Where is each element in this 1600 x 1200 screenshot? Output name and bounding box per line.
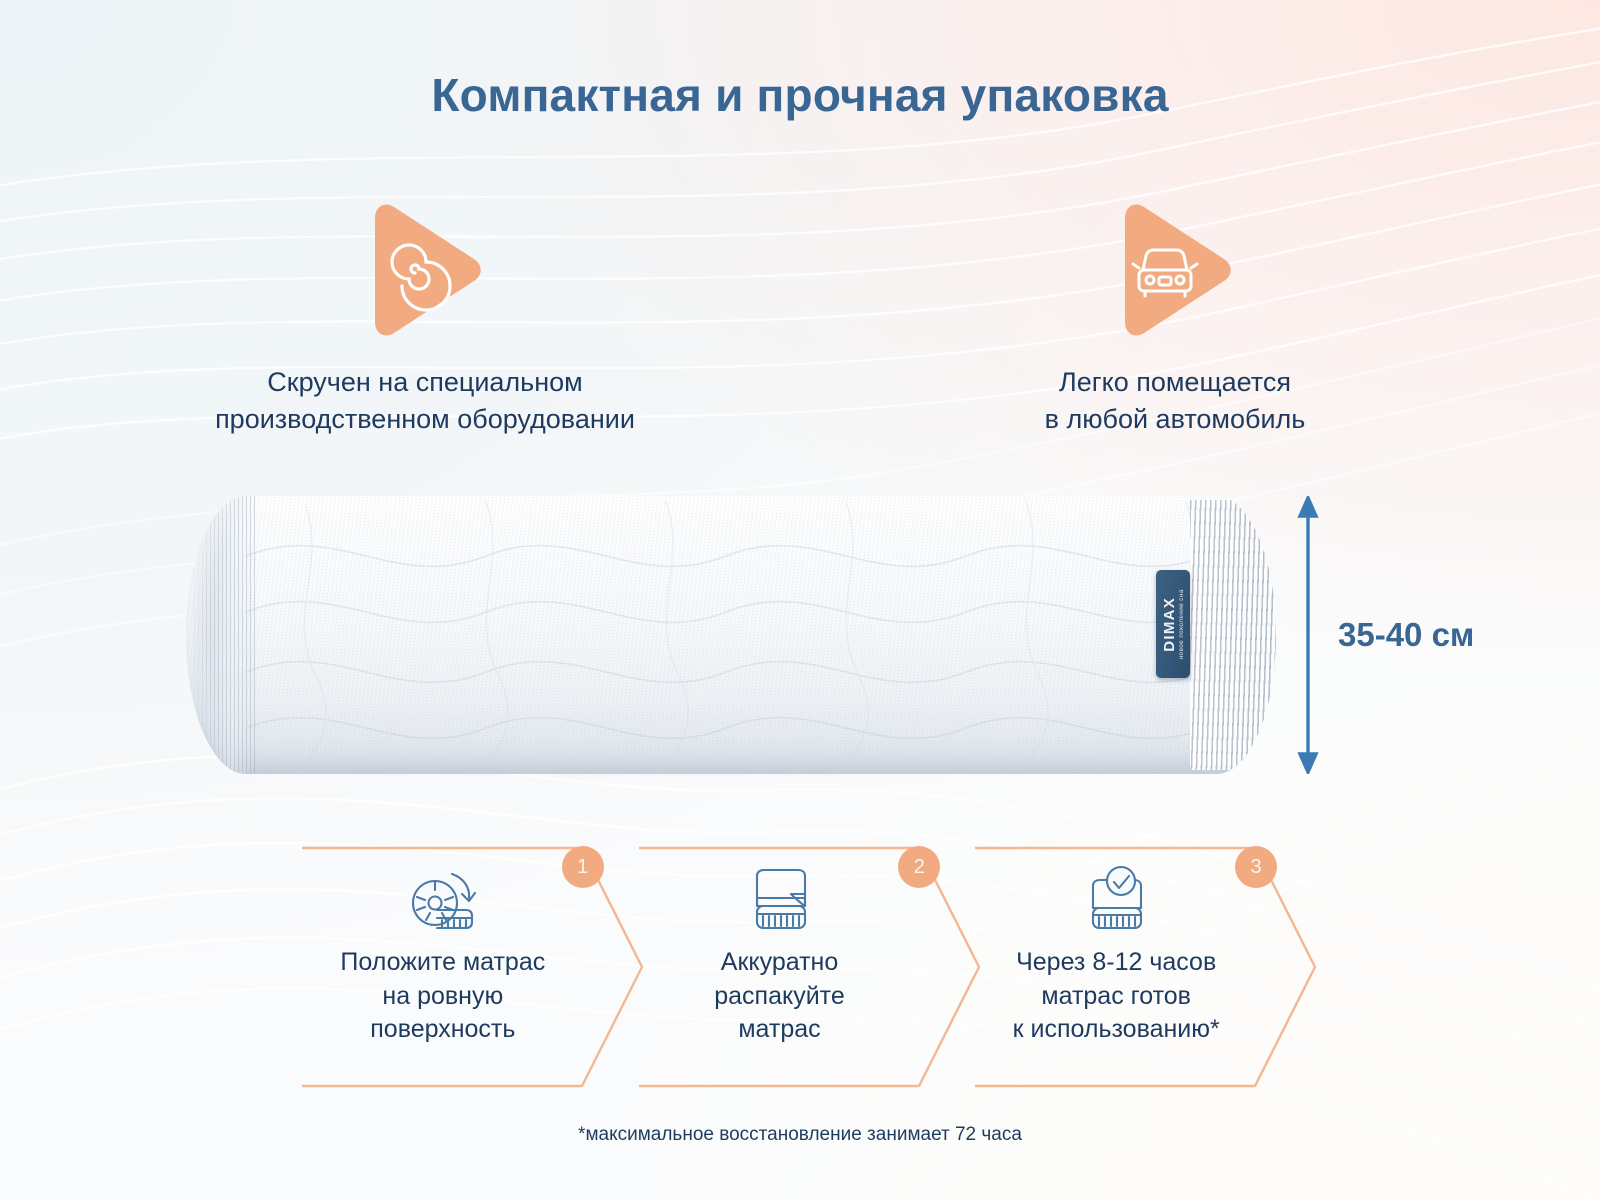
step-item-1: 1 Положите матрас на ровную поверхность	[296, 842, 644, 1092]
rolled-mattress-body: DIMAX новое поколение сна	[186, 496, 1276, 774]
rolled-mattress-image: DIMAX новое поколение сна	[186, 496, 1276, 774]
fabric-grain	[186, 496, 1276, 774]
feature-caption-car: Легко помещается в любой автомобиль	[1045, 364, 1306, 439]
page-title: Компактная и прочная упаковка	[0, 68, 1600, 122]
brand-label-subtitle: новое поколение сна	[1178, 589, 1185, 659]
car-front-icon	[1101, 196, 1249, 344]
step-icon-wrap-3	[969, 864, 1265, 940]
brand-label-name: DIMAX	[1161, 589, 1178, 659]
step-item-2: 2 Аккуратно распакуйте матрас	[633, 842, 981, 1092]
feature-badge-car	[1101, 196, 1249, 344]
step-icon-wrap-2	[633, 864, 929, 940]
rolled-mattress-unroll-icon	[404, 864, 484, 940]
footnote-text: *максимальное восстановление занимает 72…	[0, 1124, 1600, 1146]
mattress-check-icon	[1077, 864, 1157, 940]
step-caption-2: Аккуратно распакуйте матрас	[633, 946, 927, 1047]
spiral-roll-icon	[351, 196, 499, 344]
dimension-arrow-icon	[1288, 496, 1328, 774]
step-icon-wrap-1	[296, 864, 592, 940]
dimension-value: 35-40 см	[1338, 616, 1474, 654]
step-caption-3: Через 8-12 часов матрас готов к использо…	[969, 946, 1263, 1047]
feature-caption-rolled: Скручен на специальном производственном …	[215, 364, 635, 439]
mattress-unpack-icon	[741, 864, 821, 940]
infographic-canvas: Компактная и прочная упаковка Скручен на…	[0, 0, 1600, 1200]
dimension-annotation: 35-40 см	[1288, 496, 1588, 774]
features-row: Скручен на специальном производственном …	[0, 196, 1600, 439]
steps-row: 1 Положите матрас на ровную поверхность	[296, 842, 1306, 1092]
brand-label: DIMAX новое поколение сна	[1156, 570, 1190, 678]
roll-right-coil-edge	[1190, 500, 1276, 770]
feature-badge-rolled	[351, 196, 499, 344]
feature-item-car: Легко помещается в любой автомобиль	[965, 196, 1385, 439]
step-item-3: 3 Через 8-12 часов матрас готов к исполь…	[969, 842, 1317, 1092]
feature-item-rolled: Скручен на специальном производственном …	[215, 196, 635, 439]
step-caption-1: Положите матрас на ровную поверхность	[296, 946, 590, 1047]
